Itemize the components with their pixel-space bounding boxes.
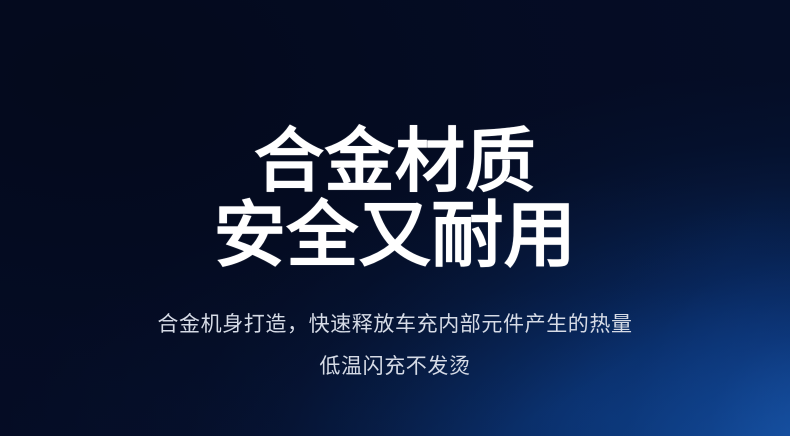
subtitle-line-2: 低温闪充不发烫 [0, 356, 790, 377]
banner-content: 合金材质 安全又耐用 合金机身打造，快速释放车充内部元件产生的热量 低温闪充不发… [0, 0, 790, 436]
headline-line-1: 合金材质 [0, 126, 790, 196]
subtitle-line-1: 合金机身打造，快速释放车充内部元件产生的热量 [0, 314, 790, 335]
promo-banner: 合金材质 安全又耐用 合金机身打造，快速释放车充内部元件产生的热量 低温闪充不发… [0, 0, 790, 436]
headline-line-2: 安全又耐用 [0, 200, 790, 272]
